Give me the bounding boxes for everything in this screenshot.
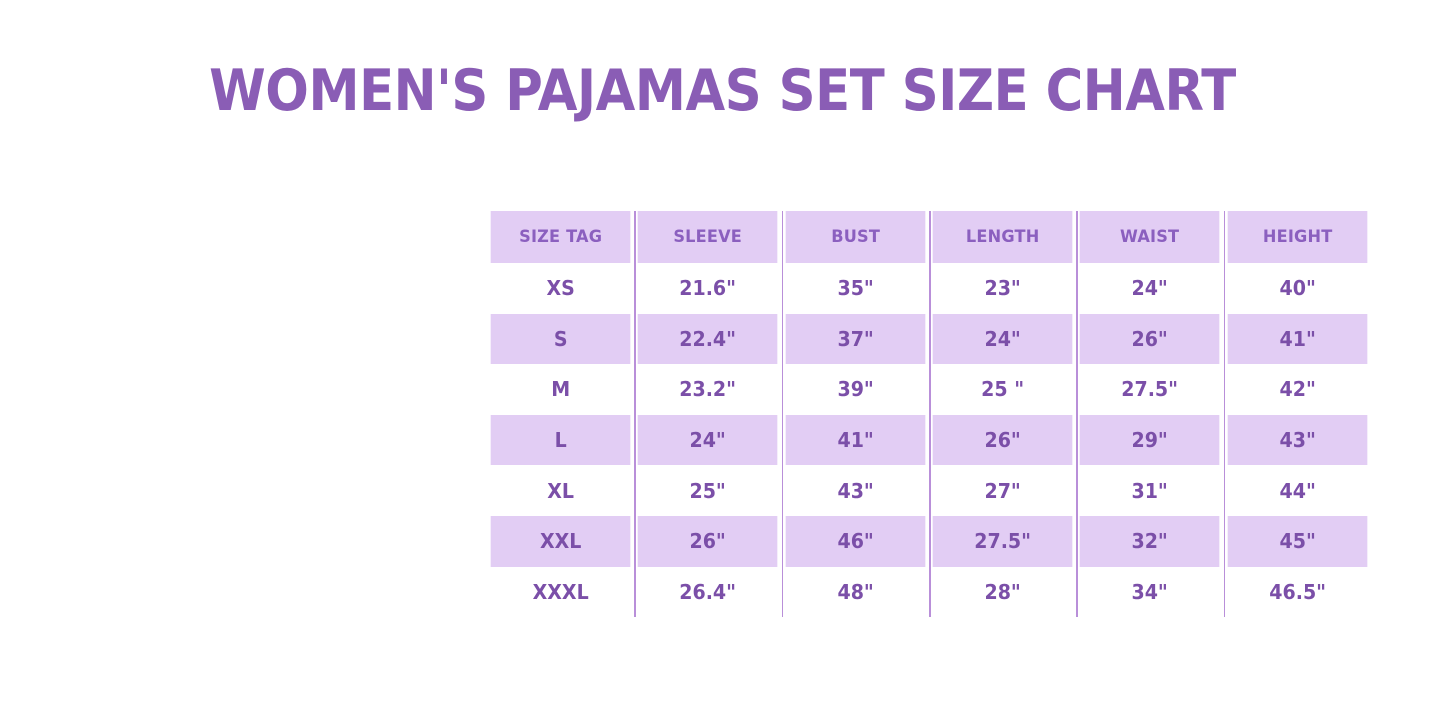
cell-sleeve: 22.4" — [638, 314, 778, 365]
cell-size-tag: XXL — [491, 516, 631, 567]
cell-waist: 26" — [1080, 314, 1220, 365]
cell-size-tag: XL — [491, 465, 631, 516]
cell-sleeve: 26.4" — [638, 567, 778, 618]
cell-waist: 29" — [1080, 415, 1220, 466]
column-header-waist: WAIST — [1080, 211, 1220, 263]
column-header-length: LENGTH — [933, 211, 1073, 263]
cell-bust: 46" — [785, 516, 925, 567]
cell-waist: 32" — [1080, 516, 1220, 567]
table-row: S 22.4" 37" 24" 26" 41" — [487, 314, 1371, 365]
cell-height: 41" — [1227, 314, 1367, 365]
table-row: XXL 26" 46" 27.5" 32" 45" — [487, 516, 1371, 567]
cell-sleeve: 21.6" — [638, 263, 778, 314]
cell-height: 42" — [1227, 364, 1367, 415]
table-row: XS 21.6" 35" 23" 24" 40" — [487, 263, 1371, 314]
cell-size-tag: L — [491, 415, 631, 466]
column-header-sleeve: SLEEVE — [638, 211, 778, 263]
size-chart-page: WOMEN'S PAJAMAS SET SIZE CHART SIZE TAG … — [0, 0, 1445, 723]
cell-length: 27.5" — [933, 516, 1073, 567]
cell-height: 40" — [1227, 263, 1367, 314]
size-chart-table-container: SIZE TAG SLEEVE BUST LENGTH WAIST HEIGHT… — [487, 211, 1371, 617]
cell-bust: 43" — [785, 465, 925, 516]
cell-bust: 48" — [785, 567, 925, 618]
cell-length: 25 " — [933, 364, 1073, 415]
column-header-bust: BUST — [785, 211, 925, 263]
cell-height: 43" — [1227, 415, 1367, 466]
cell-sleeve: 23.2" — [638, 364, 778, 415]
table-header-row: SIZE TAG SLEEVE BUST LENGTH WAIST HEIGHT — [487, 211, 1371, 263]
table-row: XXXL 26.4" 48" 28" 34" 46.5" — [487, 567, 1371, 618]
cell-bust: 41" — [785, 415, 925, 466]
cell-bust: 35" — [785, 263, 925, 314]
cell-length: 28" — [933, 567, 1073, 618]
cell-length: 26" — [933, 415, 1073, 466]
cell-height: 44" — [1227, 465, 1367, 516]
column-header-size-tag: SIZE TAG — [491, 211, 631, 263]
table-row: XL 25" 43" 27" 31" 44" — [487, 465, 1371, 516]
cell-length: 23" — [933, 263, 1073, 314]
cell-length: 24" — [933, 314, 1073, 365]
cell-waist: 34" — [1080, 567, 1220, 618]
table-header: SIZE TAG SLEEVE BUST LENGTH WAIST HEIGHT — [487, 211, 1371, 263]
cell-waist: 31" — [1080, 465, 1220, 516]
cell-sleeve: 25" — [638, 465, 778, 516]
size-chart-table: SIZE TAG SLEEVE BUST LENGTH WAIST HEIGHT… — [487, 211, 1371, 617]
cell-sleeve: 24" — [638, 415, 778, 466]
table-row: M 23.2" 39" 25 " 27.5" 42" — [487, 364, 1371, 415]
cell-bust: 39" — [785, 364, 925, 415]
cell-size-tag: XXXL — [491, 567, 631, 618]
cell-waist: 27.5" — [1080, 364, 1220, 415]
column-header-height: HEIGHT — [1227, 211, 1367, 263]
cell-height: 46.5" — [1227, 567, 1367, 618]
cell-sleeve: 26" — [638, 516, 778, 567]
cell-waist: 24" — [1080, 263, 1220, 314]
page-title: WOMEN'S PAJAMAS SET SIZE CHART — [72, 56, 1373, 126]
cell-height: 45" — [1227, 516, 1367, 567]
table-row: L 24" 41" 26" 29" 43" — [487, 415, 1371, 466]
cell-length: 27" — [933, 465, 1073, 516]
cell-size-tag: M — [491, 364, 631, 415]
table-body: XS 21.6" 35" 23" 24" 40" S 22.4" 37" 24"… — [487, 263, 1371, 617]
cell-bust: 37" — [785, 314, 925, 365]
cell-size-tag: XS — [491, 263, 631, 314]
cell-size-tag: S — [491, 314, 631, 365]
